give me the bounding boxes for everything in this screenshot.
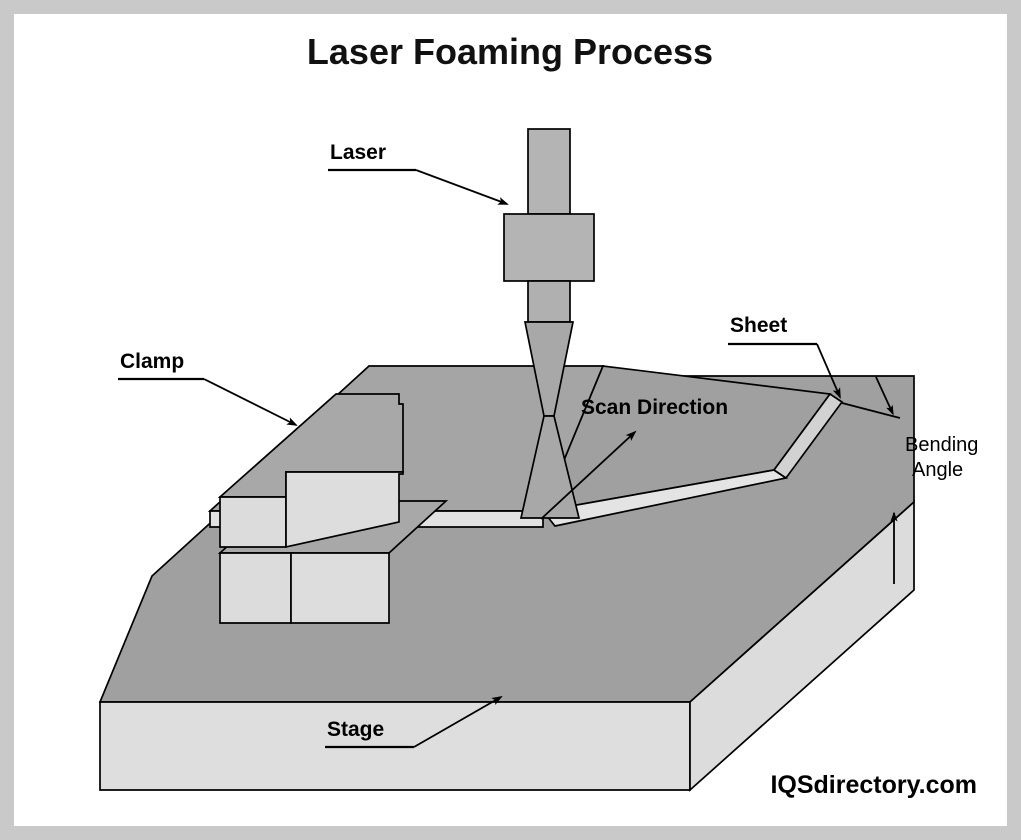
bending-angle-label-line1: Bending (905, 434, 978, 456)
label-clamp: Clamp (118, 350, 296, 425)
label-laser: Laser (328, 141, 507, 204)
scan-direction-label-text: Scan Direction (581, 396, 728, 419)
laser-head (504, 129, 594, 322)
clamp-leader-arrow (204, 379, 296, 425)
clamp-lower-front-face (291, 553, 389, 623)
figure-frame: Laser Foaming Process (0, 0, 1021, 840)
laser-upper-barrel (528, 129, 570, 214)
laser-leader-arrow (416, 170, 507, 204)
clamp-upper-bar (220, 394, 403, 547)
page-title: Laser Foaming Process (307, 31, 713, 72)
laser-body-box (504, 214, 594, 281)
stage-label-text: Stage (327, 718, 384, 741)
clamp-label-text: Clamp (120, 350, 184, 373)
bending-angle-label-line2: Angle (912, 459, 963, 481)
clamp-lower-end-face (220, 553, 291, 623)
clamp-upper-end-face (220, 497, 286, 547)
laser-foaming-process-diagram: Laser Foaming Process (14, 14, 1007, 826)
laser-nozzle (528, 281, 570, 322)
sheet-label-text: Sheet (730, 314, 787, 337)
watermark-text: IQSdirectory.com (770, 771, 977, 799)
figure-canvas: Laser Foaming Process (14, 14, 1007, 826)
label-bending-angle: Bending Angle (905, 434, 978, 481)
laser-label-text: Laser (330, 141, 386, 164)
